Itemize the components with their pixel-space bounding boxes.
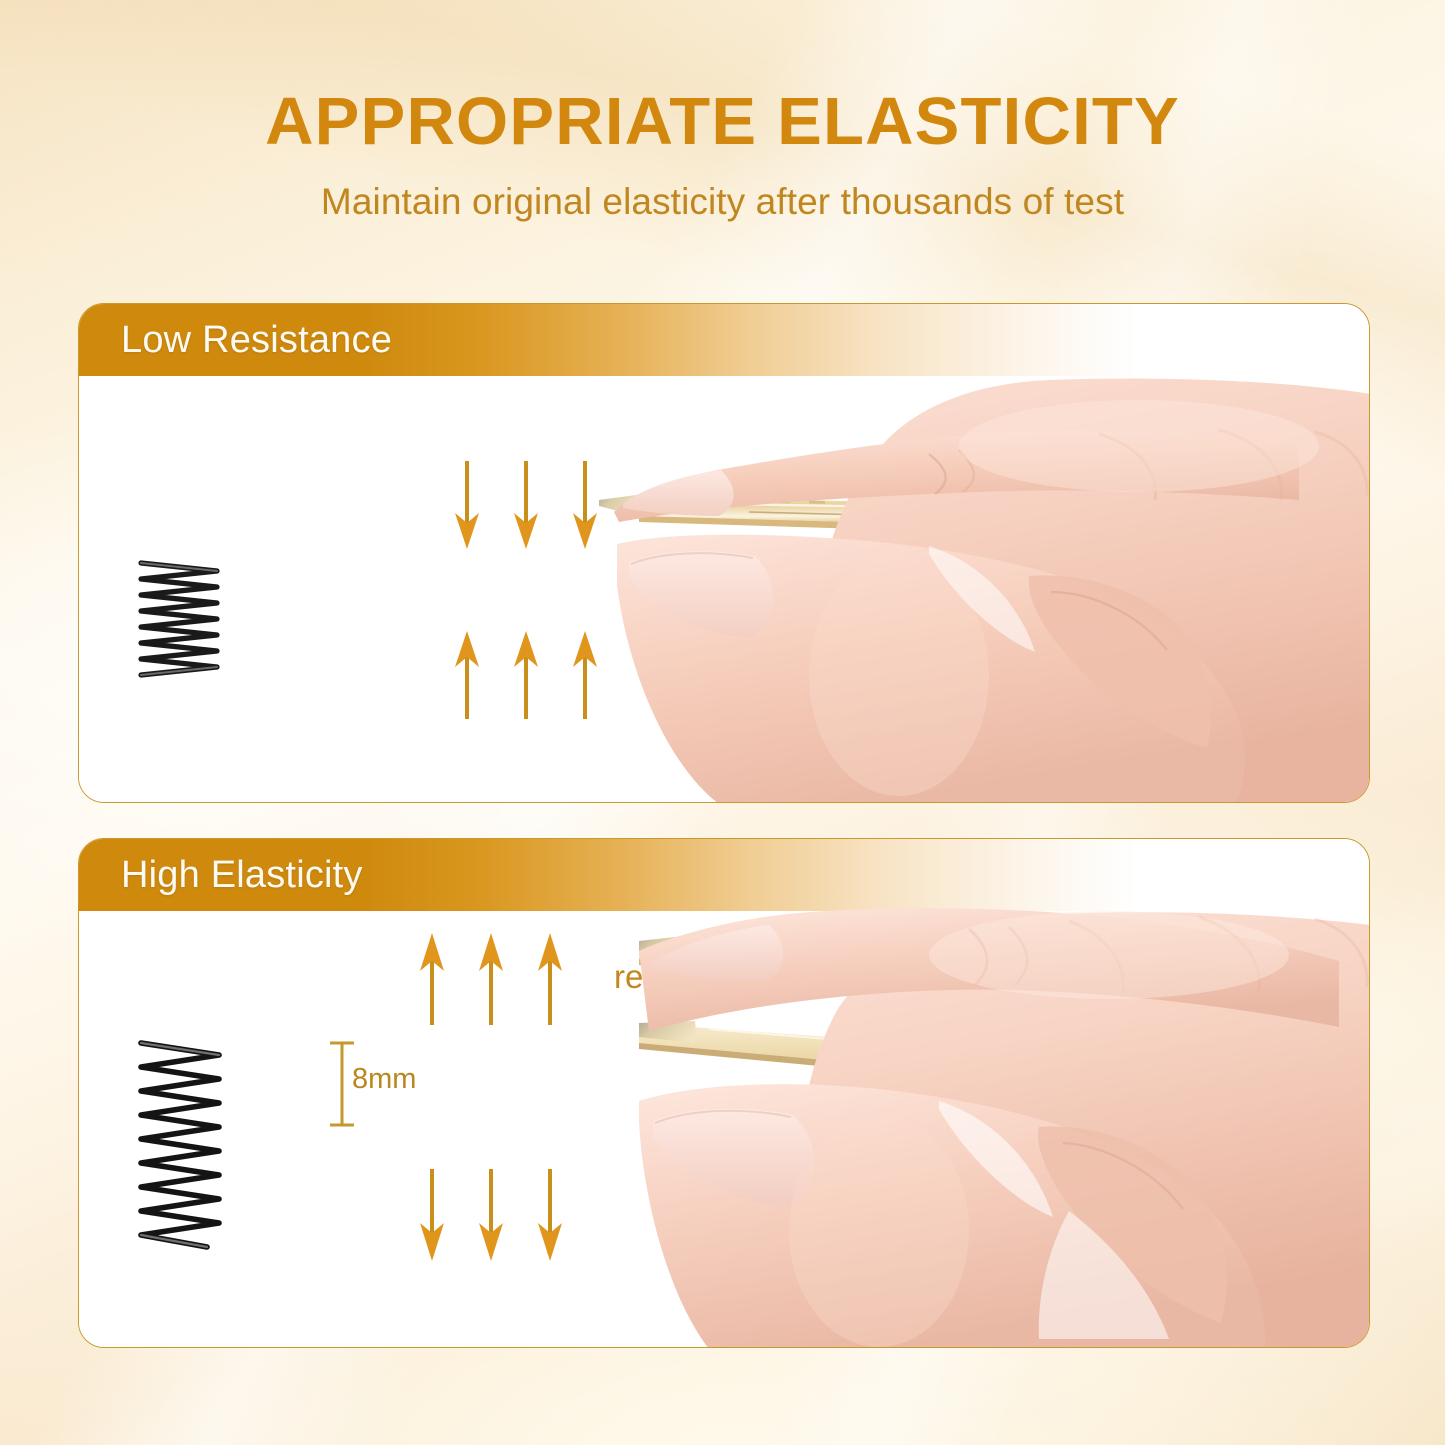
badge-low-resistance-label: Low Resistance xyxy=(121,319,392,362)
arrow-up-icon xyxy=(419,933,445,1025)
hand xyxy=(639,908,1370,1348)
photo-hand-tweezers-open xyxy=(639,911,1369,1347)
arrow-up-icon xyxy=(478,933,504,1025)
badge-high-elasticity: High Elasticity xyxy=(79,839,1369,911)
badge-low-resistance: Low Resistance xyxy=(79,304,1369,376)
page-subtitle: Maintain original elasticity after thous… xyxy=(0,181,1445,223)
arrow-group-down-high xyxy=(419,1169,563,1261)
arrow-down-icon xyxy=(478,1169,504,1261)
arrow-up-icon xyxy=(537,933,563,1025)
extended-spring-icon xyxy=(117,1037,243,1257)
panel-low-resistance-body xyxy=(79,376,1369,802)
arrow-down-icon xyxy=(513,461,539,549)
panel-high-elasticity: High Elasticity reb xyxy=(78,838,1370,1348)
header: APPROPRIATE ELASTICITY Maintain original… xyxy=(0,88,1445,223)
arrow-group-up-low xyxy=(454,631,598,719)
arrow-up-icon xyxy=(513,631,539,719)
dimension-label-8mm: 8mm xyxy=(352,1063,416,1096)
photo-hand-tweezers-closed xyxy=(599,376,1369,802)
badge-high-elasticity-label: High Elasticity xyxy=(121,854,363,897)
panel-low-resistance: Low Resistance xyxy=(78,303,1370,803)
page-title: APPROPRIATE ELASTICITY xyxy=(0,88,1445,155)
arrow-group-down-low xyxy=(454,461,598,549)
arrow-up-icon xyxy=(454,631,480,719)
arrow-down-icon xyxy=(419,1169,445,1261)
arrow-down-icon xyxy=(537,1169,563,1261)
arrow-up-icon xyxy=(572,631,598,719)
arrow-group-up-high xyxy=(419,933,563,1025)
compressed-spring-icon xyxy=(119,558,239,680)
hand xyxy=(614,379,1370,803)
arrow-down-icon xyxy=(454,461,480,549)
arrow-down-icon xyxy=(572,461,598,549)
panel-high-elasticity-body: rebound easily 8mm xyxy=(79,911,1369,1347)
